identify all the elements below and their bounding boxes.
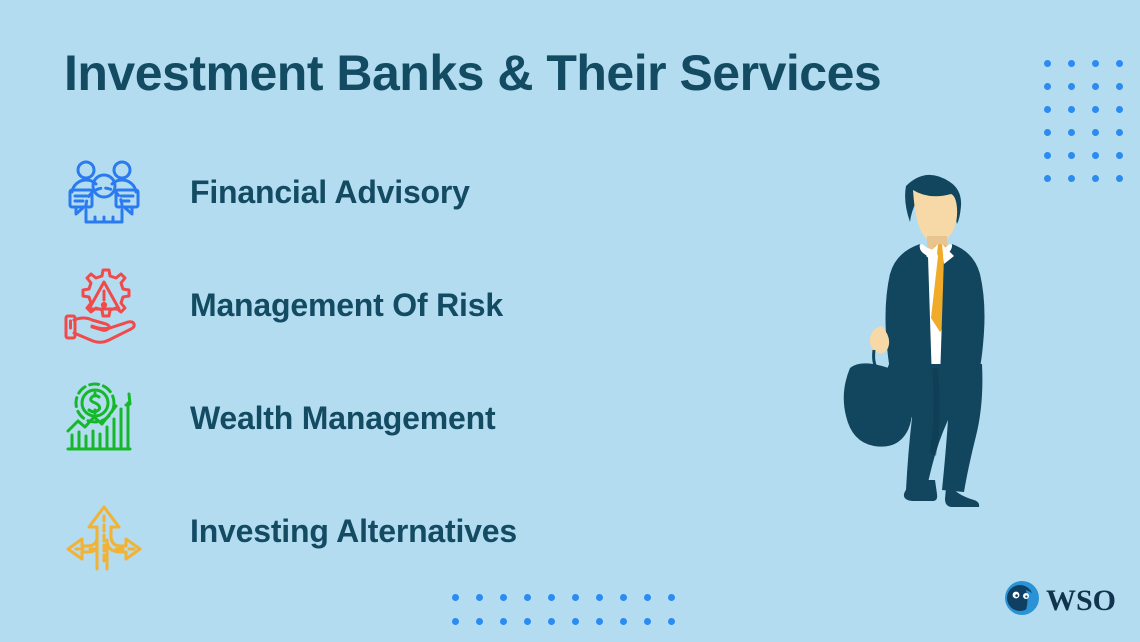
wso-wordmark: WSO xyxy=(1046,586,1116,616)
dollar-growth-chart-icon xyxy=(56,381,152,457)
dot xyxy=(596,618,603,625)
dot xyxy=(668,618,675,625)
dot xyxy=(1068,106,1075,113)
dot xyxy=(476,618,483,625)
dot xyxy=(452,594,459,601)
businessman-illustration xyxy=(836,168,1016,518)
dot xyxy=(548,618,555,625)
dot xyxy=(1068,129,1075,136)
dot xyxy=(1068,60,1075,67)
dot xyxy=(1044,83,1051,90)
gear-warning-hand-icon xyxy=(56,268,152,344)
dot xyxy=(1116,152,1123,159)
dot xyxy=(548,594,555,601)
service-label: Investing Alternatives xyxy=(190,513,517,550)
dot xyxy=(1068,152,1075,159)
service-label: Wealth Management xyxy=(190,400,495,437)
dot xyxy=(1044,106,1051,113)
dot xyxy=(1044,152,1051,159)
dot xyxy=(620,618,627,625)
dot xyxy=(644,594,651,601)
dot xyxy=(1116,129,1123,136)
dot xyxy=(1092,83,1099,90)
service-item-management-of-risk[interactable]: Management Of Risk xyxy=(56,249,676,362)
dot xyxy=(500,594,507,601)
dot xyxy=(1116,175,1123,182)
dot xyxy=(1068,175,1075,182)
dot xyxy=(596,594,603,601)
page-title: Investment Banks & Their Services xyxy=(64,44,881,102)
service-label: Management Of Risk xyxy=(190,287,503,324)
dot xyxy=(1068,83,1075,90)
dot xyxy=(1116,60,1123,67)
dot xyxy=(1116,83,1123,90)
service-label: Financial Advisory xyxy=(190,174,470,211)
service-item-wealth-management[interactable]: Wealth Management xyxy=(56,362,676,475)
dot xyxy=(1092,175,1099,182)
dot xyxy=(1044,60,1051,67)
dot xyxy=(1092,152,1099,159)
wso-globe-icon xyxy=(1004,580,1040,621)
dot xyxy=(1116,106,1123,113)
dot xyxy=(572,618,579,625)
service-list: Financial Advisory Management Of Risk xyxy=(56,136,676,588)
decorative-dot-grid-bottom xyxy=(452,594,692,642)
dot xyxy=(1044,129,1051,136)
dot xyxy=(452,618,459,625)
dot xyxy=(1092,129,1099,136)
dot xyxy=(620,594,627,601)
service-item-investing-alternatives[interactable]: Investing Alternatives xyxy=(56,475,676,588)
dot xyxy=(476,594,483,601)
dot xyxy=(668,594,675,601)
people-chat-icon xyxy=(56,158,152,228)
dot xyxy=(524,618,531,625)
service-item-financial-advisory[interactable]: Financial Advisory xyxy=(56,136,676,249)
dot xyxy=(500,618,507,625)
three-way-road-arrow-icon xyxy=(56,493,152,571)
dot xyxy=(1044,175,1051,182)
decorative-dot-grid-top-right xyxy=(1044,60,1140,198)
wso-logo[interactable]: WSO xyxy=(1004,580,1116,621)
dot xyxy=(524,594,531,601)
dot xyxy=(572,594,579,601)
dot xyxy=(1092,60,1099,67)
dot xyxy=(644,618,651,625)
dot xyxy=(1092,106,1099,113)
